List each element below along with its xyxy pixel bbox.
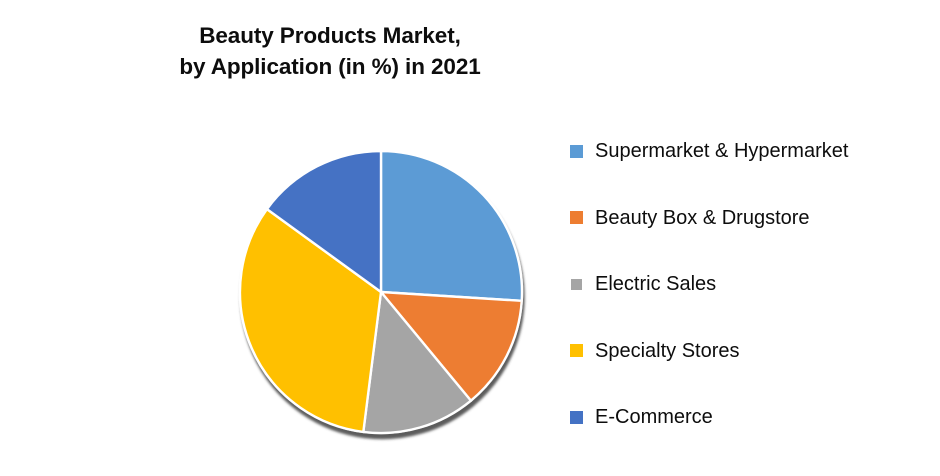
legend-label-supermarket-hypermarket: Supermarket & Hypermarket — [595, 141, 848, 161]
pie-svg — [0, 96, 560, 456]
legend-item-beauty-box-drugstore[interactable]: Beauty Box & Drugstore — [570, 185, 940, 252]
legend-swatch-icon-specialty-stores — [570, 344, 583, 357]
chart-title: Beauty Products Market, by Application (… — [0, 20, 660, 82]
pie-plot-area — [0, 96, 560, 456]
legend-item-specialty-stores[interactable]: Specialty Stores — [570, 318, 940, 385]
chart-title-line-2: by Application (in %) in 2021 — [0, 51, 660, 82]
legend-label-e-commerce: E-Commerce — [595, 407, 713, 427]
legend-label-beauty-box-drugstore: Beauty Box & Drugstore — [595, 208, 810, 228]
legend-item-e-commerce[interactable]: E-Commerce — [570, 384, 940, 451]
legend-swatch-icon-e-commerce — [570, 411, 583, 424]
pie-chart-figure: Beauty Products Market, by Application (… — [0, 0, 940, 476]
legend-swatch-icon-supermarket-hypermarket — [570, 145, 583, 158]
chart-legend: Supermarket & Hypermarket Beauty Box & D… — [570, 118, 940, 451]
legend-item-supermarket-hypermarket[interactable]: Supermarket & Hypermarket — [570, 118, 940, 185]
pie-slices-group — [240, 151, 522, 433]
legend-swatch-icon-electric-sales — [571, 279, 582, 290]
legend-item-electric-sales[interactable]: Electric Sales — [570, 251, 940, 318]
legend-label-specialty-stores: Specialty Stores — [595, 341, 740, 361]
pie-slice[interactable] — [381, 151, 522, 301]
chart-title-line-1: Beauty Products Market, — [0, 20, 660, 51]
legend-swatch-icon-beauty-box-drugstore — [570, 211, 583, 224]
legend-label-electric-sales: Electric Sales — [595, 274, 716, 294]
